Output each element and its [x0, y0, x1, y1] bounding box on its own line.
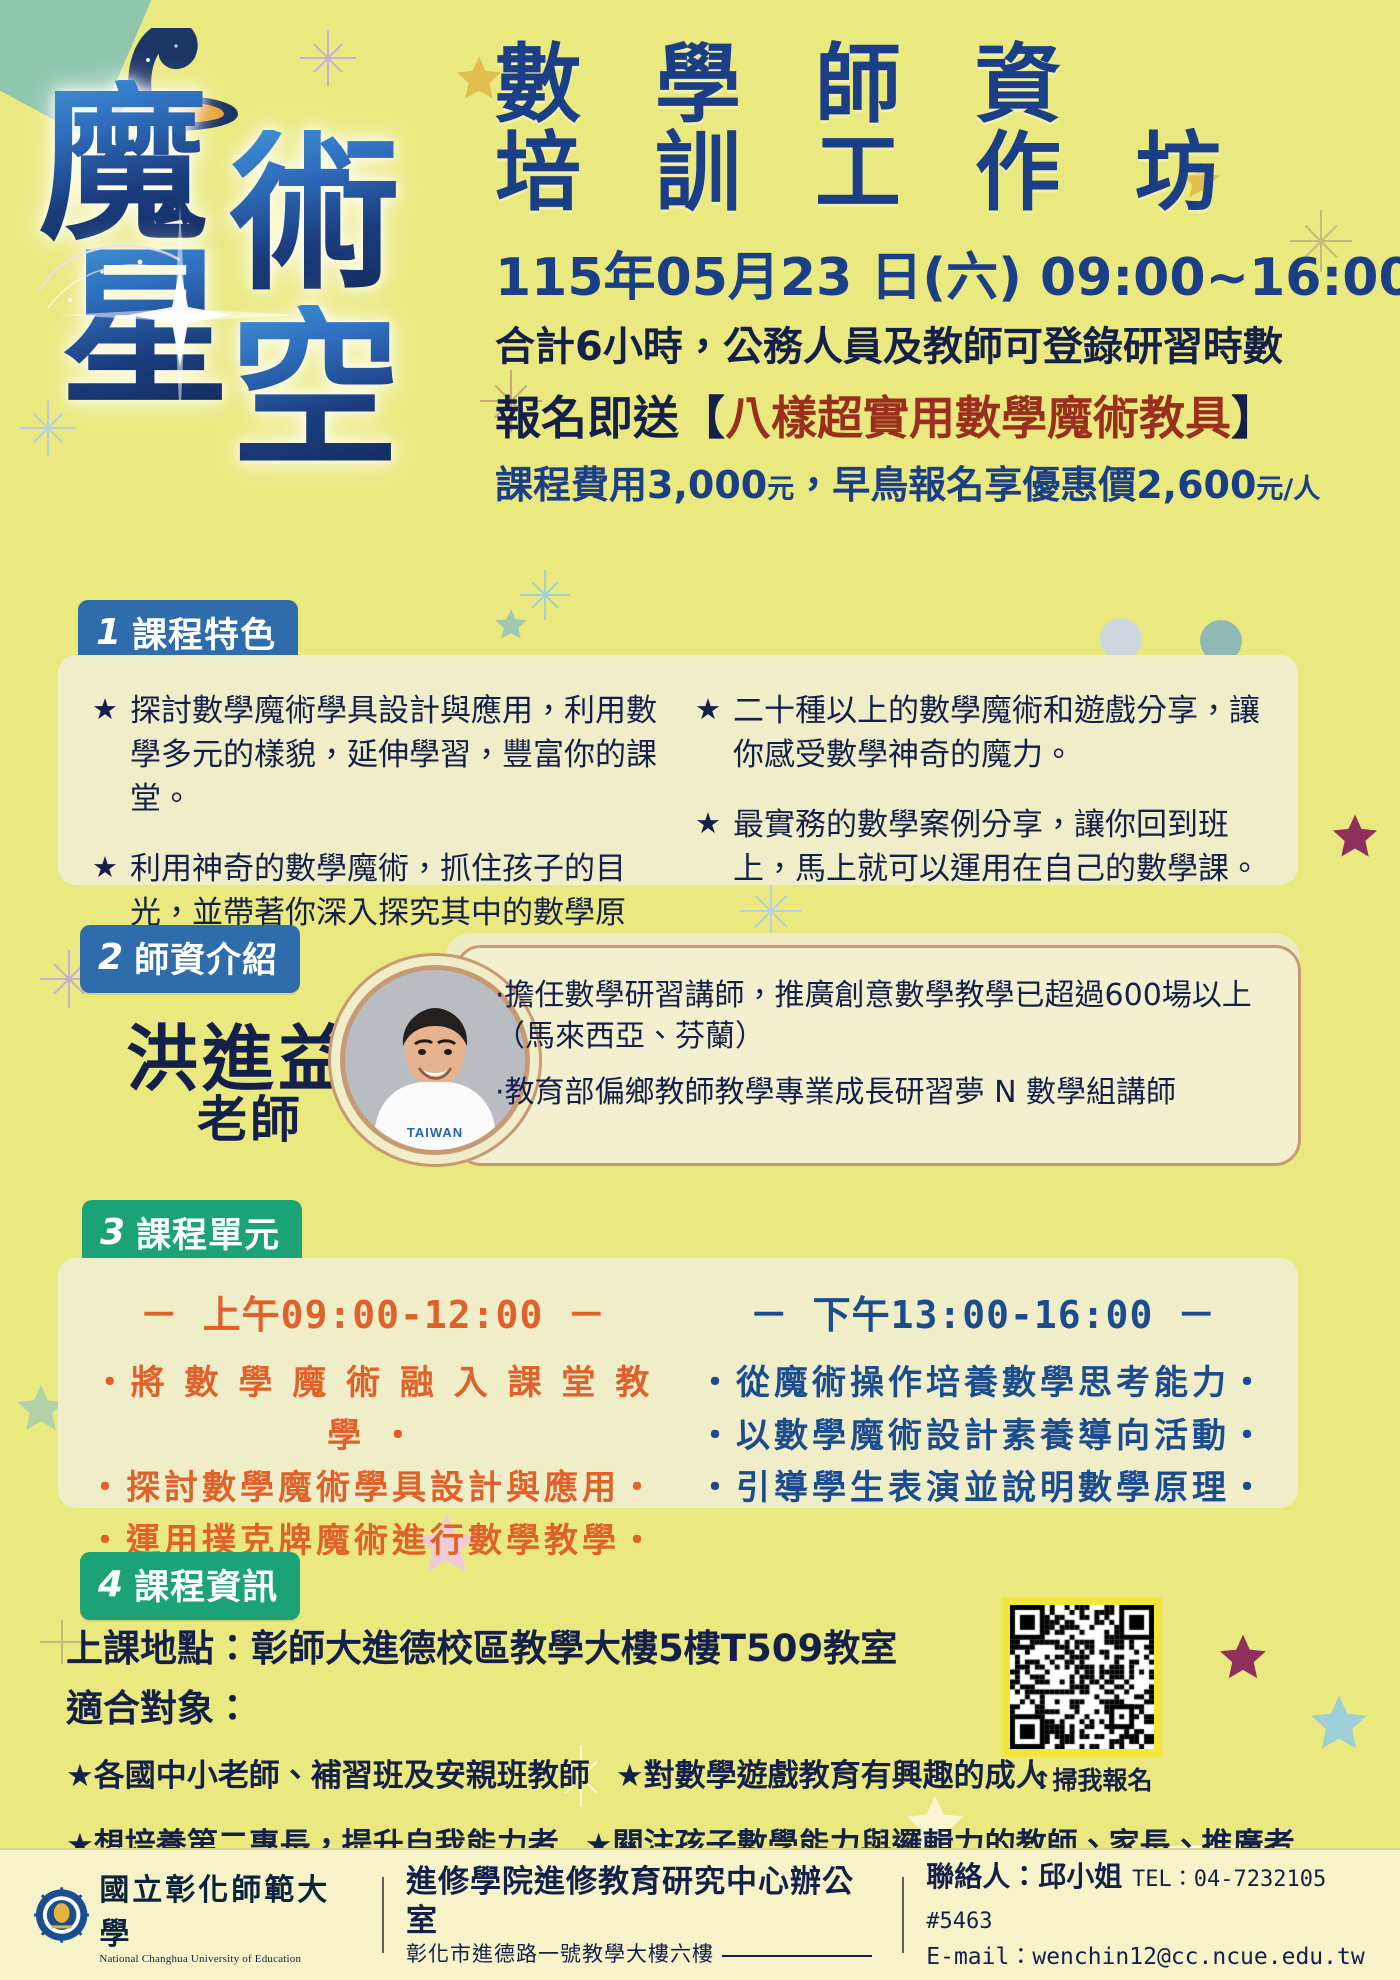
section-number-1: 1: [96, 612, 122, 653]
venue-line: 上課地點：彰師大進德校區教學大樓5樓T509教室: [66, 1618, 1006, 1672]
university-name: 國立彰化師範大學: [99, 1865, 360, 1953]
star-decoration: [1215, 1630, 1271, 1686]
features-panel: ★ 探討數學魔術學具設計與應用，利用數學多元的樣貌，延伸學習，豐富你的課堂。 ★…: [58, 655, 1298, 885]
title-line-2: 培 訓 工 作 坊: [495, 130, 1375, 218]
price-line: 課程費用3,000元，早鳥報名享優惠價2,600元/人: [495, 454, 1375, 509]
audience-item: ★各國中小老師、補習班及安親班教師: [66, 1750, 590, 1795]
units-afternoon: － 下午13:00-16:00 － ・從魔術操作培養數學思考能力・ ・以數學魔術…: [678, 1284, 1288, 1568]
footer-divider: [382, 1877, 384, 1953]
feature-item: ★ 探討數學魔術學具設計與應用，利用數學多元的樣貌，延伸學習，豐富你的課堂。: [92, 689, 665, 821]
gift-highlight: 八樣超實用數學魔術教具: [725, 391, 1231, 445]
section-title-3: 課程單元: [136, 1207, 280, 1258]
university-logo: 國立彰化師範大學 National Changhua University of…: [34, 1865, 360, 1965]
star-decoration: [492, 606, 530, 644]
audience-row: ★各國中小老師、補習班及安親班教師 ★對數學遊戲教育有興趣的成人: [66, 1750, 1006, 1795]
star-bullet-icon: ★: [616, 1758, 644, 1794]
unit-item: ・探討數學魔術學具設計與應用・: [68, 1462, 678, 1515]
unit-item: ・引導學生表演並說明數學原理・: [678, 1462, 1288, 1515]
office-address: 彰化市進德路一號教學大樓六樓: [406, 1942, 714, 1966]
star-decoration: [1328, 810, 1382, 864]
units-afternoon-heading: － 下午13:00-16:00 －: [678, 1284, 1288, 1339]
units-morning: － 上午09:00-12:00 － ・將 數 學 魔 術 融 入 課 堂 教 學…: [68, 1284, 678, 1568]
units-morning-heading: － 上午09:00-12:00 －: [68, 1284, 678, 1339]
poster-root: 魔 術 星 空 數 學 師 資 培 訓 工 作 坊 115年05月23 日(六)…: [0, 0, 1400, 1980]
contact-person: 聯絡人：邱小姐: [926, 1860, 1122, 1893]
qr-caption: ↑掃我報名: [1002, 1761, 1182, 1797]
audience-label: 適合對象：: [66, 1678, 1006, 1732]
feature-text: 探討數學魔術學具設計與應用，利用數學多元的樣貌，延伸學習，豐富你的課堂。: [130, 689, 665, 821]
section-title-2: 師資介紹: [134, 932, 278, 983]
feature-item: ★ 二十種以上的數學魔術和遊戲分享，讓你感受數學神奇的魔力。: [695, 689, 1268, 777]
section-number-3: 3: [100, 1212, 126, 1253]
gift-prefix: 報名即送【: [495, 391, 725, 445]
unit-item: ・從魔術操作培養數學思考能力・: [678, 1357, 1288, 1410]
footer-divider: [902, 1877, 904, 1953]
section-number-2: 2: [98, 937, 124, 978]
price-base: 課程費用3,000: [495, 463, 767, 507]
title-line-1: 數 學 師 資: [495, 42, 1375, 130]
info-block: 上課地點：彰師大進德校區教學大樓5樓T509教室 適合對象： ★各國中小老師、補…: [66, 1618, 1006, 1864]
audience-item: ★對數學遊戲教育有興趣的成人: [616, 1750, 1047, 1795]
portrait-shirt-text: TAIWAN: [407, 1125, 463, 1140]
price-unit-2: 元/人: [1256, 474, 1320, 505]
office-name: 進修學院進修教育研究中心辦公室: [406, 1863, 880, 1941]
section-tab-2: 2 師資介紹: [80, 925, 300, 993]
unit-item: ・將 數 學 魔 術 融 入 課 堂 教 學 ・: [68, 1357, 678, 1462]
feature-item: ★ 最實務的數學案例分享，讓你回到班上，馬上就可以運用在自己的數學課。: [695, 803, 1268, 891]
portrait-shirt: [375, 1082, 495, 1155]
poster-footer: 國立彰化師範大學 National Changhua University of…: [0, 1848, 1400, 1980]
event-date: 115年05月23 日(六) 09:00~16:00: [495, 235, 1375, 310]
contact-email[interactable]: E-mail：wenchin12@cc.ncue.edu.tw: [926, 1940, 1400, 1975]
star-decoration: [1305, 1690, 1373, 1758]
gift-line: 報名即送【八樣超實用數學魔術教具】: [495, 382, 1375, 448]
university-seal-icon: [34, 1887, 89, 1943]
title-block: 數 學 師 資 培 訓 工 作 坊 115年05月23 日(六) 09:00~1…: [495, 42, 1375, 509]
magic-flare-icon: [30, 140, 330, 400]
venue-value: 彰師大進德校區教學大樓5樓T509教室: [251, 1627, 897, 1670]
star-bullet-icon: ★: [695, 689, 721, 777]
contact-block: 聯絡人：邱小姐 TEL：04-7232105 #5463 E-mail：wenc…: [926, 1856, 1400, 1975]
teacher-bio: ·擔任數學研習講師，推廣創意數學教學已超過600場以上（馬來西亞、芬蘭） ·教育…: [495, 975, 1285, 1127]
address-rule: [722, 1955, 872, 1957]
registration-qr-block[interactable]: ↑掃我報名: [1002, 1597, 1182, 1797]
price-unit-1: 元: [767, 474, 794, 505]
star-bullet-icon: ★: [66, 1758, 94, 1794]
venue-label: 上課地點：: [66, 1627, 251, 1670]
section-title-4: 課程資訊: [134, 1559, 278, 1610]
audience-text: 各國中小老師、補習班及安親班教師: [94, 1758, 590, 1794]
section-title-1: 課程特色: [132, 607, 276, 658]
registration-qr-code[interactable]: [1002, 1597, 1162, 1757]
feature-text: 二十種以上的數學魔術和遊戲分享，讓你感受數學神奇的魔力。: [733, 689, 1268, 777]
audience-text: 對數學遊戲教育有興趣的成人: [644, 1758, 1047, 1794]
office-block: 進修學院進修教育研究中心辦公室 彰化市進德路一號教學大樓六樓: [406, 1863, 880, 1967]
magic-logo: 魔 術 星 空: [30, 20, 460, 480]
units-panel: － 上午09:00-12:00 － ・將 數 學 魔 術 融 入 課 堂 教 學…: [58, 1258, 1298, 1508]
university-name-en: National Changhua University of Educatio…: [99, 1953, 360, 1965]
unit-item: ・以數學魔術設計素養導向活動・: [678, 1410, 1288, 1463]
contact-person-line: 聯絡人：邱小姐 TEL：04-7232105 #5463: [926, 1856, 1400, 1940]
price-mid: ，早鳥報名享優惠價2,600: [794, 463, 1256, 507]
gift-suffix: 】: [1231, 391, 1277, 445]
poster-header: 魔 術 星 空 數 學 師 資 培 訓 工 作 坊 115年05月23 日(六)…: [0, 0, 1400, 600]
feature-text: 最實務的數學案例分享，讓你回到班上，馬上就可以運用在自己的數學課。: [733, 803, 1268, 891]
office-address-line: 彰化市進德路一號教學大樓六樓: [406, 1941, 880, 1967]
section-tab-4: 4 課程資訊: [80, 1552, 300, 1620]
bio-item: ·教育部偏鄉教師教學專業成長研習夢 N 數學組講師: [495, 1072, 1285, 1113]
bubble-decoration: [1100, 618, 1142, 660]
event-hours: 合計6小時，公務人員及教師可登錄研習時數: [495, 314, 1375, 372]
star-bullet-icon: ★: [92, 689, 118, 821]
section-number-4: 4: [98, 1564, 124, 1605]
bio-item: ·擔任數學研習講師，推廣創意數學教學已超過600場以上（馬來西亞、芬蘭）: [495, 975, 1285, 1058]
star-bullet-icon: ★: [695, 803, 721, 891]
